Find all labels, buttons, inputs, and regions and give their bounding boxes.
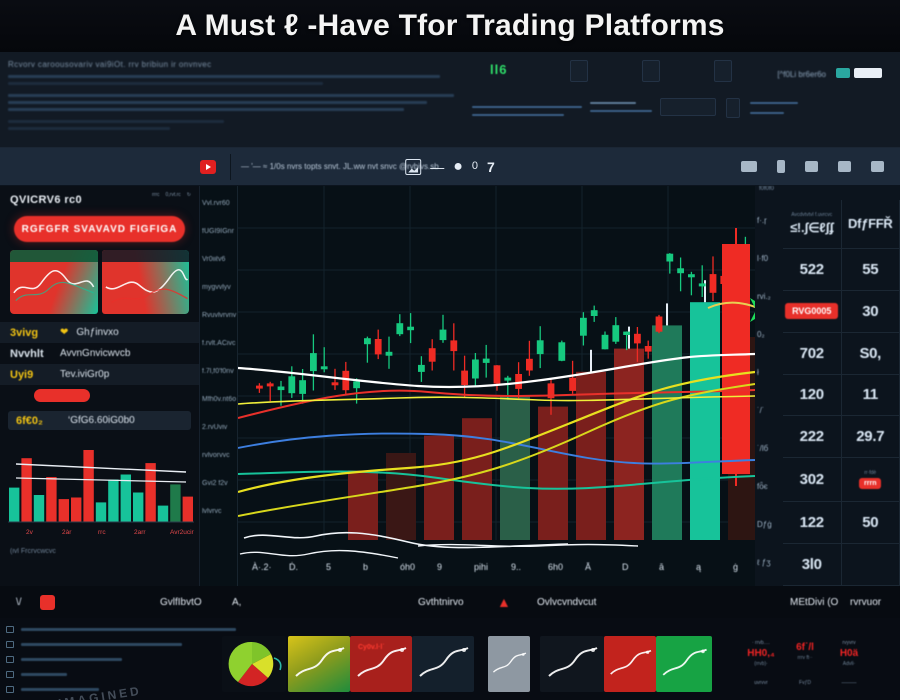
cell-value: ≤!.ʃ∈ℓʃʄ bbox=[790, 220, 833, 236]
toolbar-divider bbox=[230, 154, 231, 180]
document-heading: Rcvorv caroousovariv vai9iOt. rrv bribiu… bbox=[8, 60, 458, 69]
copy-icon[interactable] bbox=[838, 161, 851, 172]
chart-plot-area[interactable] bbox=[238, 186, 755, 586]
menu-item[interactable]: Ovlvcvndvcut bbox=[537, 597, 596, 608]
table-cell[interactable]: rr·fdèrrrn bbox=[842, 458, 900, 502]
sidebar-list[interactable]: 3vivg ❤ Ghƒinvxo Nvvhlt AvvnGnvicwvcb Uy… bbox=[0, 322, 199, 405]
table-cell[interactable]: 30 bbox=[842, 291, 900, 333]
bar bbox=[9, 488, 19, 522]
x-tick-label: 2arr bbox=[134, 529, 146, 536]
list-item-label: Ghƒinvxo bbox=[76, 327, 118, 338]
table-cell[interactable]: 50 bbox=[842, 502, 900, 544]
bar bbox=[71, 498, 81, 523]
candlestick bbox=[580, 318, 587, 336]
rule-line bbox=[472, 114, 564, 116]
list-item-amount: 3vivg bbox=[10, 327, 52, 339]
x-tick-label: b bbox=[363, 562, 368, 572]
x-tick-label: ріhі bbox=[474, 562, 488, 572]
bottom-tiles-row: IMAGINED Cy0v.l·l˙ bbox=[0, 618, 900, 700]
sidebar-cta-button[interactable]: RGFGFR SVAVAVD FIGFIGA bbox=[14, 216, 185, 242]
trend-line bbox=[16, 478, 186, 482]
text-line bbox=[8, 108, 404, 111]
status-badge[interactable]: RVG0005 bbox=[785, 303, 838, 319]
text-line bbox=[8, 75, 440, 78]
candlestick bbox=[472, 360, 479, 379]
candlestick bbox=[310, 353, 317, 371]
info-text bbox=[21, 673, 67, 676]
candlestick bbox=[515, 374, 522, 389]
table-cell[interactable]: 702 bbox=[783, 333, 842, 375]
x-tick-label: ġ bbox=[733, 562, 738, 572]
cell-value: 222 bbox=[800, 428, 824, 445]
bar bbox=[96, 502, 106, 522]
placeholder-box bbox=[570, 60, 588, 82]
cell-value: 702 bbox=[800, 345, 824, 362]
candlestick bbox=[526, 359, 533, 371]
cell-value: 3l0 bbox=[802, 556, 822, 573]
sidebar-footer-text: (ivl Frcrvcwcvc bbox=[0, 546, 199, 555]
chart-x-axis: À·.2·Ḋ.5bóh09ріhі9..6h0ĀDāąġ bbox=[238, 540, 755, 586]
chart-y-axis: Vvl.rvr60fUGI9IGnrVr0iiℓv6mygvvlyvRvuvlv… bbox=[200, 186, 238, 586]
row-icon bbox=[6, 686, 14, 693]
sidebar-pill-row[interactable] bbox=[0, 385, 199, 405]
info-text bbox=[21, 658, 122, 661]
digit-7-icon[interactable]: 7 bbox=[487, 160, 495, 174]
table-cell[interactable]: 55 bbox=[842, 249, 900, 291]
pie-chart-icon bbox=[222, 636, 286, 692]
candlestick bbox=[407, 327, 414, 331]
document-right-block: ll6 [^f0Li br6er6o bbox=[470, 58, 890, 142]
right-data-panel[interactable]: f0f0f0 f·.ŗl·f0rvi.₂0₂ł˙/˙˙/lбfȫєDƒġℓ ƒʒ… bbox=[755, 186, 900, 586]
candlestick bbox=[375, 339, 382, 354]
stat-column: rvyvrv H0ä Advli· bbox=[830, 640, 868, 667]
axis-value: ˙/˙ bbox=[757, 406, 765, 415]
x-tick-label: rrc bbox=[98, 529, 106, 536]
stat-top-label: rvyvrv bbox=[830, 640, 868, 646]
stat-bottom-label: Advli· bbox=[830, 661, 868, 667]
x-tick-label: Ā bbox=[585, 562, 591, 572]
y-tick-label: f.rvlt.ACivc bbox=[202, 340, 235, 347]
tile-dark-blue[interactable] bbox=[412, 636, 474, 692]
candlestick bbox=[688, 274, 695, 277]
white-chip-icon bbox=[854, 68, 882, 78]
candlestick bbox=[623, 332, 630, 335]
bar bbox=[121, 475, 131, 523]
candlestick bbox=[353, 381, 360, 388]
bar bbox=[46, 477, 56, 522]
cell-value: 50 bbox=[862, 514, 878, 531]
x-tick-label: 2v bbox=[26, 529, 34, 536]
tile-squiggle-icon bbox=[488, 636, 530, 692]
candlestick bbox=[699, 283, 706, 286]
stat-value: H0ä bbox=[830, 648, 868, 659]
cursor-icon[interactable]: \/ bbox=[16, 597, 22, 608]
candlestick bbox=[321, 366, 328, 369]
list-item[interactable]: Uyi9 Tev.iviGr0p bbox=[0, 364, 199, 385]
table-cell[interactable]: 122 bbox=[783, 502, 842, 544]
candlestick bbox=[483, 359, 490, 363]
green-code-text: ll6 bbox=[490, 62, 507, 77]
red-pill-button[interactable] bbox=[34, 389, 90, 402]
info-text bbox=[21, 628, 236, 631]
table-cell[interactable]: 302 bbox=[783, 458, 842, 502]
volume-bar bbox=[348, 470, 378, 540]
record-button[interactable] bbox=[200, 160, 216, 174]
bar bbox=[83, 450, 93, 522]
candlestick bbox=[634, 334, 641, 344]
chart-header-label: ‘GfG6.60iG0b0 bbox=[68, 415, 135, 426]
x-tick-label: D bbox=[622, 562, 629, 572]
tile-gray[interactable] bbox=[488, 636, 530, 692]
heart-icon: ❤ bbox=[60, 327, 68, 338]
cell-value: 30 bbox=[862, 303, 878, 320]
y-tick-label: Vr0iiℓv6 bbox=[202, 256, 225, 263]
bar bbox=[34, 495, 44, 522]
y-tick-label: fUGI9IGnr bbox=[202, 228, 234, 235]
bottom-menu-bar[interactable]: \/GvlfIbvtOA,Gvthtnirvo▲OvlvcvndvcutMEtD… bbox=[0, 586, 900, 618]
toolbar-right-group[interactable] bbox=[741, 160, 884, 173]
cell-value: 55 bbox=[862, 261, 878, 278]
bar bbox=[158, 506, 168, 522]
candlestick bbox=[656, 317, 663, 332]
refresh-icon[interactable]: ↻ bbox=[187, 192, 191, 198]
tile-squiggle-icon bbox=[540, 636, 604, 692]
tile-squiggle-icon bbox=[412, 636, 474, 692]
row-icon bbox=[6, 656, 14, 663]
y-tick-label: Mfh0v.nt6o bbox=[202, 396, 236, 403]
x-tick-label: 2àr bbox=[62, 529, 72, 536]
teal-chip-icon bbox=[836, 68, 850, 78]
bookmark-icon[interactable] bbox=[777, 160, 785, 173]
info-row bbox=[6, 622, 236, 637]
text-line bbox=[8, 82, 323, 85]
trend-line bbox=[16, 464, 186, 472]
sidebar-thumbnails[interactable] bbox=[10, 250, 189, 314]
axis-value: 0₂ bbox=[757, 330, 765, 339]
volume-bar bbox=[500, 395, 530, 540]
candlestick bbox=[612, 325, 619, 342]
market-thumb-b[interactable] bbox=[102, 250, 190, 314]
volume-bar bbox=[690, 302, 720, 540]
cell-sublabel: Avcdvtvtvl f.uvrcvc bbox=[791, 212, 832, 218]
candlestick bbox=[278, 387, 285, 391]
trading-platform-screenshot: A Must ℓ -Have Tfor Trading Platforms Rc… bbox=[0, 0, 900, 700]
digit-0-icon[interactable]: 0 bbox=[472, 161, 478, 172]
volume-bar bbox=[614, 349, 644, 540]
menu-item[interactable]: rvrvuor bbox=[850, 597, 881, 608]
bar bbox=[170, 484, 180, 522]
stat-column: 6f˙/l rrrv ft·· bbox=[786, 640, 824, 661]
row-icon bbox=[6, 626, 14, 633]
candlestick bbox=[645, 346, 652, 352]
stat-value: HH0,₄ bbox=[742, 648, 780, 659]
placeholder-box bbox=[714, 60, 732, 82]
cell-value: 122 bbox=[800, 514, 824, 531]
x-tick-label: Ḋ. bbox=[289, 562, 298, 572]
placeholder-box bbox=[642, 60, 660, 82]
text-line bbox=[8, 101, 427, 104]
y-tick-label: f.7l,f0'f0nv bbox=[202, 368, 234, 375]
candlestick bbox=[722, 244, 750, 474]
candlestick bbox=[267, 383, 274, 386]
list-item[interactable]: 3vivg ❤ Ghƒinvxo bbox=[0, 322, 199, 343]
arrow-icon[interactable]: — bbox=[430, 160, 444, 174]
axis-value: Dƒġ bbox=[757, 520, 772, 529]
cell-value: S0, bbox=[859, 345, 881, 362]
candlestick bbox=[494, 365, 501, 383]
tile-green[interactable] bbox=[656, 636, 712, 692]
y-tick-label: mygvvlyv bbox=[202, 284, 231, 291]
tile-dark[interactable] bbox=[540, 636, 604, 692]
stat-footer-label: FvƒD bbox=[786, 680, 824, 686]
sidebar-bar-chart-svg: 2v2àrrrc2arrAvr2ucirr bbox=[8, 434, 194, 546]
candlestick bbox=[537, 340, 544, 354]
sidebar-chart-header: 6f€0₂ ‘GfG6.60iG0b0 bbox=[8, 411, 191, 430]
rule-line bbox=[472, 106, 582, 108]
x-tick-label: 6h0 bbox=[548, 562, 563, 572]
x-tick-label: ā bbox=[659, 562, 664, 572]
left-sidebar[interactable]: QVICRV6 rc0 rrrc 0,rvt.rc ↻ RGFGFR SVAVA… bbox=[0, 186, 200, 586]
candlestick bbox=[418, 365, 425, 372]
table-cell[interactable]: 11 bbox=[842, 375, 900, 417]
text-line bbox=[8, 94, 454, 97]
candlestick bbox=[396, 323, 403, 334]
tile-squiggle-icon bbox=[656, 636, 712, 692]
top-document-panel: Rcvorv caroousovariv vai9iOt. rrv bribiu… bbox=[0, 52, 900, 148]
candlestick bbox=[602, 335, 609, 350]
tile-red[interactable] bbox=[604, 636, 656, 692]
price-chart-svg bbox=[238, 186, 755, 586]
x-tick-label: óh0 bbox=[400, 562, 415, 572]
list-item-amount: Uyi9 bbox=[10, 369, 52, 381]
x-tick-label: ą bbox=[696, 562, 701, 572]
rule-line bbox=[750, 112, 784, 114]
save-icon[interactable] bbox=[805, 161, 818, 172]
application-toolbar[interactable]: — '— ≈ 1/0s nvrs topts snvt. JL.ww nvt s… bbox=[0, 148, 900, 186]
axis-value: fȫє bbox=[757, 482, 768, 491]
menu-item[interactable]: A, bbox=[232, 597, 241, 608]
cell-value: 302 bbox=[800, 471, 824, 488]
axis-value: ˙/lб bbox=[757, 444, 768, 453]
candlestick bbox=[461, 371, 468, 385]
toolbar-center-group[interactable]: — ● 0 7 bbox=[405, 159, 495, 175]
volume-bar bbox=[386, 453, 416, 540]
micro-label: rrrc bbox=[152, 192, 160, 198]
layout-icon[interactable] bbox=[741, 161, 757, 172]
tile-pie-chart[interactable] bbox=[222, 636, 286, 692]
table-cell[interactable] bbox=[842, 544, 900, 586]
page-title-bar: A Must ℓ -Have Tfor Trading Platforms bbox=[0, 0, 900, 52]
axis-value: f·.ŗ bbox=[757, 216, 767, 225]
sidebar-bar-chart: 2v2àrrrc2arrAvr2ucirr bbox=[8, 434, 193, 546]
axis-value: l·f0 bbox=[757, 254, 768, 263]
list-item-label: Tev.iviGr0p bbox=[60, 369, 109, 380]
flame-icon[interactable]: ▲ bbox=[497, 594, 511, 610]
document-text-block: Rcvorv caroousovariv vai9iOt. rrv bribiu… bbox=[8, 60, 458, 134]
axis-value: ł bbox=[757, 368, 759, 377]
text-line bbox=[8, 127, 170, 130]
candlestick bbox=[386, 352, 393, 356]
doc-right-label: [^f0Li br6er6o bbox=[777, 70, 826, 79]
micro-label: 0,rvt.rc bbox=[166, 192, 181, 198]
table-cell[interactable]: S0, bbox=[842, 333, 900, 375]
cell-value: DfƒFFŘ bbox=[848, 216, 892, 231]
row-icon bbox=[6, 641, 14, 648]
candlestick bbox=[288, 376, 295, 393]
stat-top-label: · rrvb.… bbox=[742, 640, 780, 646]
sidebar-micro-labels: rrrc 0,rvt.rc ↻ bbox=[152, 192, 191, 198]
tile-red-alert[interactable]: Cy0v.l·l˙ bbox=[350, 636, 412, 692]
screenshot-icon[interactable] bbox=[405, 159, 421, 175]
placeholder-box bbox=[726, 98, 740, 118]
table-cell[interactable]: 29.7 bbox=[842, 416, 900, 458]
stat-value: 6f˙/l bbox=[786, 642, 824, 653]
chart-header-amount: 6f€0₂ bbox=[16, 415, 58, 427]
stat-bottom-label: (rrvb)· bbox=[742, 661, 780, 667]
main-price-chart[interactable]: Vvl.rvr60fUGI9IGnrVr0iiℓv6mygvvlyvRvuvlv… bbox=[200, 186, 755, 586]
stat-footer-label: ——— bbox=[830, 680, 868, 686]
x-tick-label: À·.2· bbox=[252, 562, 272, 572]
tile-gradient-yellow[interactable] bbox=[288, 636, 350, 692]
table-cell[interactable]: 222 bbox=[783, 416, 842, 458]
cell-value: 120 bbox=[800, 386, 824, 403]
export-icon[interactable] bbox=[871, 161, 884, 172]
list-item-amount: Nvvhlt bbox=[10, 348, 52, 360]
menu-item[interactable]: MEtDivi (O bbox=[790, 597, 838, 608]
bar bbox=[108, 480, 118, 523]
cell-sublabel: rr·fdè bbox=[864, 470, 876, 476]
candlestick bbox=[677, 268, 684, 273]
candlestick bbox=[591, 310, 598, 316]
list-item[interactable]: Nvvhlt AvvnGnvicwvcb bbox=[0, 343, 199, 364]
bar bbox=[59, 499, 69, 522]
tile-squiggle-icon bbox=[288, 636, 350, 692]
bar bbox=[183, 497, 193, 522]
table-cell[interactable]: 3l0 bbox=[783, 544, 842, 586]
info-row bbox=[6, 637, 236, 652]
page-title: A Must ℓ -Have Tfor Trading Platforms bbox=[175, 9, 724, 43]
bar bbox=[133, 493, 143, 523]
y-tick-label: Gvi2 f2v bbox=[202, 480, 228, 487]
y-tick-label: rvlvorvvc bbox=[202, 452, 230, 459]
candlestick bbox=[256, 386, 263, 389]
stat-bottom-label: rrrv ft·· bbox=[786, 655, 824, 661]
candlestick bbox=[450, 340, 457, 351]
candlestick bbox=[504, 378, 511, 381]
x-tick-label: 9 bbox=[437, 562, 442, 572]
data-panel-header: f0f0f0 bbox=[755, 186, 900, 200]
text-line bbox=[8, 120, 224, 123]
rule-line bbox=[750, 102, 798, 104]
candlestick bbox=[710, 274, 717, 293]
axis-value: ℓ ƒʒ bbox=[757, 558, 771, 567]
y-tick-label: lvlvrvc bbox=[202, 508, 221, 515]
thumb-squiggle-icon bbox=[102, 250, 189, 312]
market-thumb-a[interactable] bbox=[10, 250, 98, 314]
y-tick-label: Vvl.rvr60 bbox=[202, 200, 230, 207]
info-row bbox=[6, 652, 236, 667]
table-cell[interactable]: RVG0005 bbox=[783, 291, 842, 333]
table-cell[interactable]: 120 bbox=[783, 375, 842, 417]
bar bbox=[21, 458, 31, 522]
rule-line bbox=[590, 110, 652, 112]
menu-item[interactable]: Gvthtnirvo bbox=[418, 597, 464, 608]
candlestick bbox=[342, 371, 349, 390]
record-badge-icon[interactable] bbox=[40, 595, 55, 610]
menu-item[interactable]: GvlfIbvtO bbox=[160, 597, 202, 608]
tile-label: Cy0v.l·l˙ bbox=[358, 644, 385, 651]
volume-bar bbox=[424, 436, 454, 540]
x-tick-label: 5 bbox=[326, 562, 331, 572]
axis-value: rvi.₂ bbox=[757, 292, 771, 301]
info-text bbox=[21, 688, 99, 691]
table-cell[interactable]: Avcdvtvtvl f.uvrcvc≤!.ʃ∈ℓʃʄ bbox=[783, 200, 842, 249]
row-icon bbox=[6, 671, 14, 678]
data-panel-axis-column: f·.ŗl·f0rvi.₂0₂ł˙/˙˙/lбfȫєDƒġℓ ƒʒ bbox=[755, 200, 783, 586]
cell-value: 11 bbox=[863, 386, 878, 403]
cell-value: 522 bbox=[800, 261, 824, 278]
info-row bbox=[6, 667, 236, 682]
status-badge[interactable]: rrrn bbox=[859, 478, 881, 489]
candlestick bbox=[558, 342, 565, 361]
bar bbox=[145, 463, 155, 522]
thumb-squiggle-icon bbox=[10, 250, 97, 312]
x-tick-label: 9.. bbox=[511, 562, 521, 572]
candlestick bbox=[299, 380, 306, 394]
main-workspace: QVICRV6 rc0 rrrc 0,rvt.rc ↻ RGFGFR SVAVA… bbox=[0, 186, 900, 586]
circle-icon[interactable]: ● bbox=[453, 159, 463, 175]
candlestick bbox=[440, 330, 447, 341]
table-cell[interactable]: DfƒFFŘ bbox=[842, 200, 900, 249]
y-tick-label: Rvuvlvrvnv bbox=[202, 312, 236, 319]
x-tick-label: Avr2ucirr bbox=[170, 529, 194, 536]
candlestick bbox=[364, 338, 371, 344]
table-cell[interactable]: 522 bbox=[783, 249, 842, 291]
placeholder-box bbox=[660, 98, 716, 116]
y-tick-label: 2.rvUviv bbox=[202, 424, 227, 431]
candlestick bbox=[569, 378, 576, 391]
list-item-label: AvvnGnvicwvcb bbox=[60, 348, 130, 359]
rule-line bbox=[590, 102, 636, 104]
stat-footer-label: uvrvvr bbox=[742, 680, 780, 686]
stat-column: · rrvb.… HH0,₄ (rrvb)· bbox=[742, 640, 780, 667]
tile-squiggle-icon bbox=[604, 636, 656, 692]
candlestick bbox=[332, 382, 339, 385]
candlestick bbox=[429, 348, 436, 362]
cell-value: 29.7 bbox=[856, 428, 884, 445]
candlestick bbox=[666, 254, 673, 262]
info-text bbox=[21, 643, 182, 646]
data-panel-grid[interactable]: Avcdvtvtvl f.uvrcvc≤!.ʃ∈ℓʃʄDfƒFFŘ52255RV… bbox=[783, 200, 900, 586]
